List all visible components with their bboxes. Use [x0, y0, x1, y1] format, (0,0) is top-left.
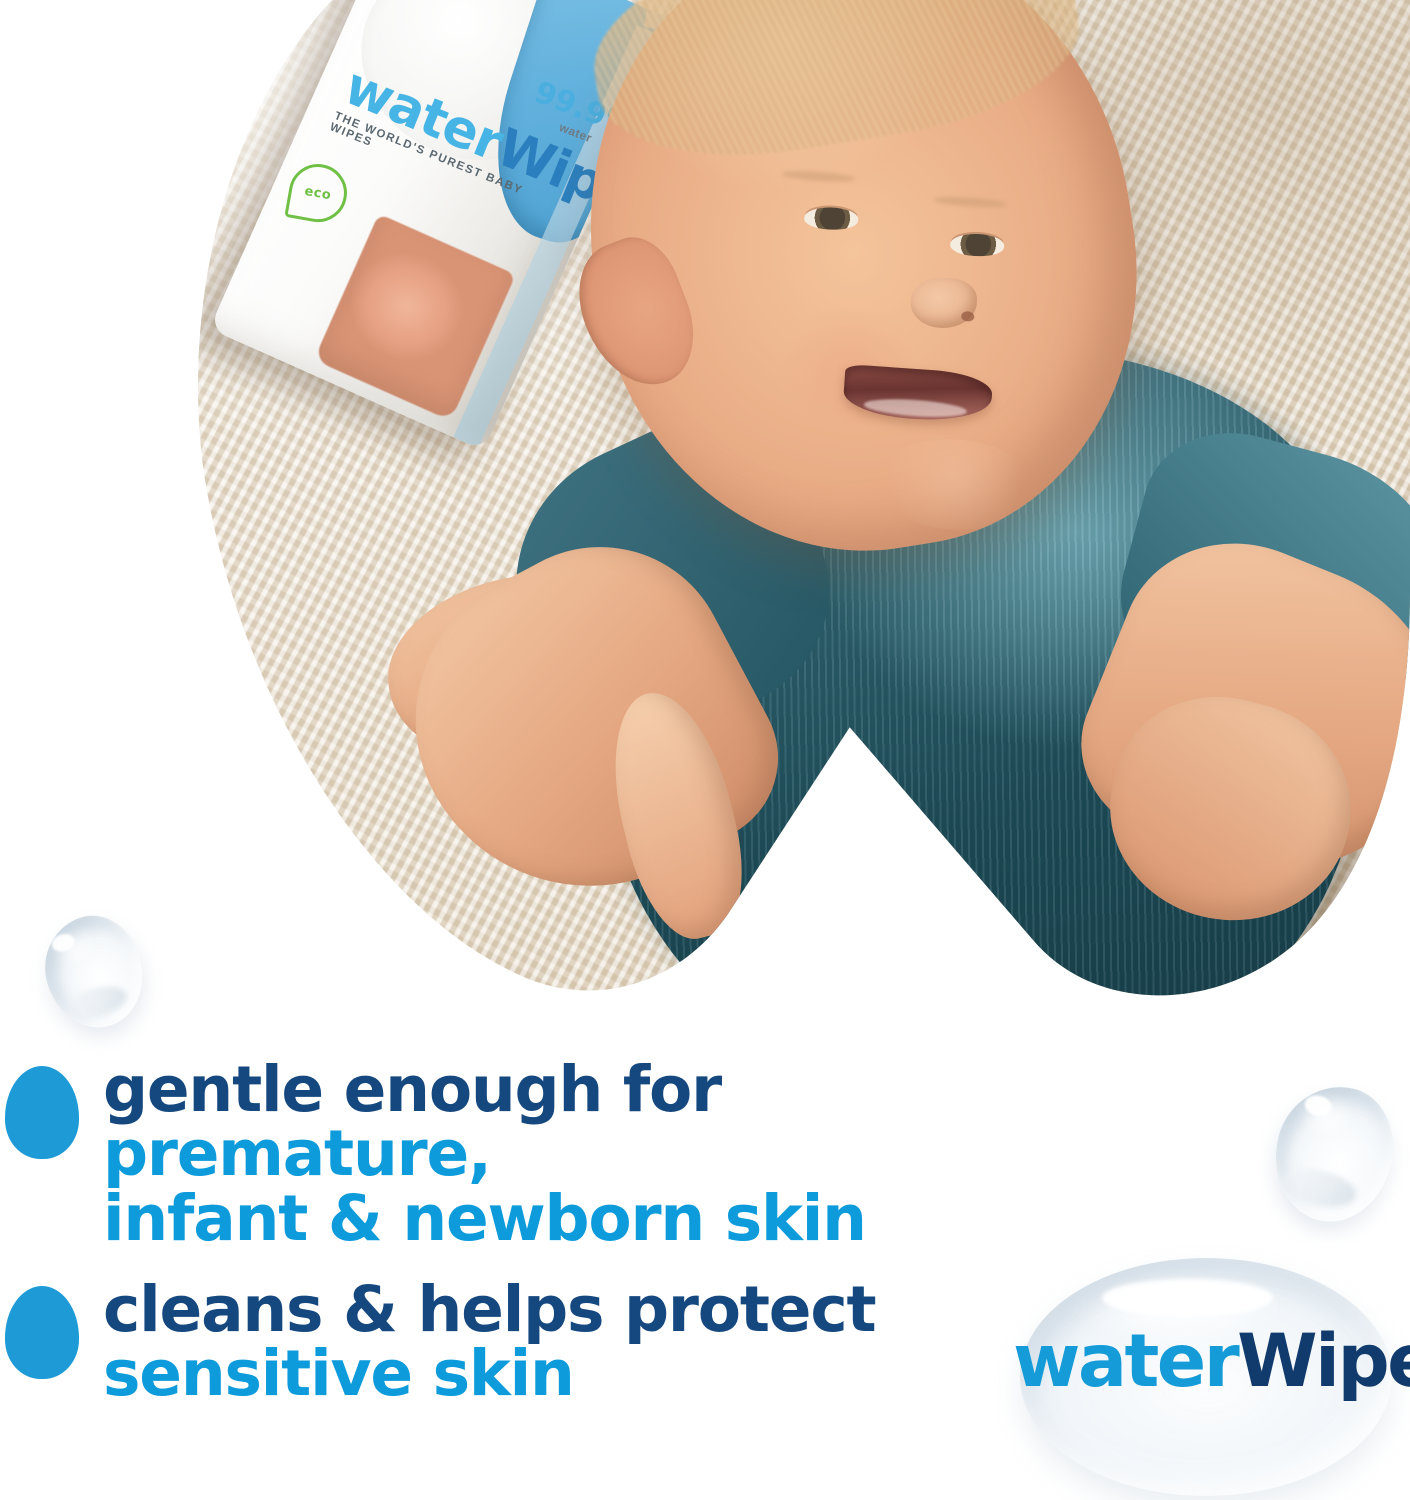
eco-badge-label: eco	[303, 183, 332, 202]
baby-eyebrow-left	[781, 169, 855, 183]
benefit-bullet-2: cleans & helps protect sensitive skin	[5, 1278, 875, 1407]
eco-badge-icon: eco	[284, 159, 351, 226]
baby-eye-right	[950, 233, 1005, 257]
benefit-bullet-1: gentle enough for premature, infant & ne…	[5, 1058, 923, 1251]
benefit-1-line1-navy: gentle enough for	[103, 1053, 721, 1126]
water-droplet-icon	[1263, 1075, 1405, 1232]
baby-eyebrow-right	[933, 195, 1007, 209]
hero-photo: waterWipes THE WORLD'S PUREST BABY WIPES…	[192, 0, 1410, 1010]
benefit-2-line1-navy: cleans & helps protect	[103, 1273, 875, 1346]
water-drop-bullet-icon	[5, 1286, 79, 1379]
benefit-bullet-2-text: cleans & helps protect sensitive skin	[103, 1278, 875, 1407]
brand-logo: waterWipes®	[1013, 1325, 1410, 1398]
benefit-1-line1-blue: premature,	[103, 1117, 491, 1190]
page-root: waterWipes THE WORLD'S PUREST BABY WIPES…	[0, 0, 1410, 1500]
benefit-bullet-1-text: gentle enough for premature, infant & ne…	[103, 1058, 923, 1251]
baby-hair	[579, 0, 1092, 179]
brand-logo-water: water	[1013, 1319, 1237, 1404]
baby-eye-left	[804, 206, 859, 230]
benefit-1-line2: infant & newborn skin	[103, 1182, 866, 1255]
benefit-2-line2: sensitive skin	[103, 1337, 574, 1410]
brand-logo-wipes: Wipes	[1237, 1319, 1410, 1404]
water-drop-bullet-icon	[5, 1066, 79, 1159]
water-droplet-icon	[32, 905, 155, 1039]
